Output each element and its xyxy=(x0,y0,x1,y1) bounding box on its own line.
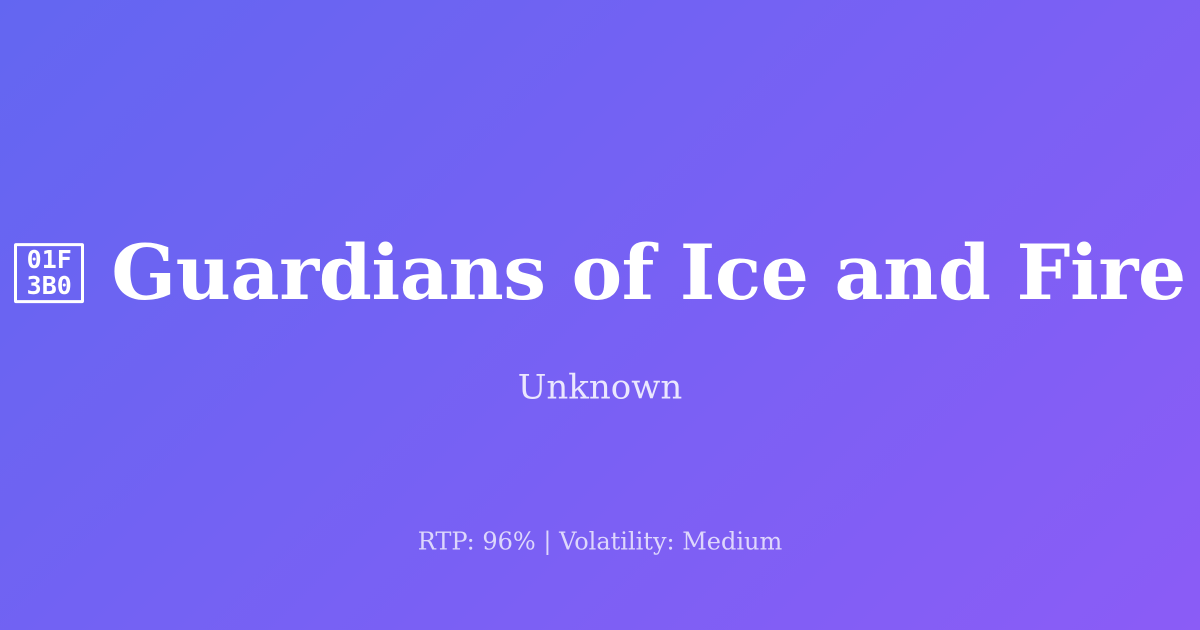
page-subtitle: Unknown xyxy=(0,368,1200,409)
slot-machine-icon: 01F 3B0 xyxy=(14,243,84,303)
title-row: 01F 3B0 Guardians of Ice and Fire xyxy=(0,233,1200,313)
tofu-hex-bottom: 3B0 xyxy=(27,273,72,299)
page-title: Guardians of Ice and Fire xyxy=(111,233,1186,313)
og-share-card: 01F 3B0 Guardians of Ice and Fire Unknow… xyxy=(0,0,1200,630)
tofu-hex-top: 01F xyxy=(27,247,72,273)
game-meta-line: RTP: 96% | Volatility: Medium xyxy=(0,528,1200,557)
